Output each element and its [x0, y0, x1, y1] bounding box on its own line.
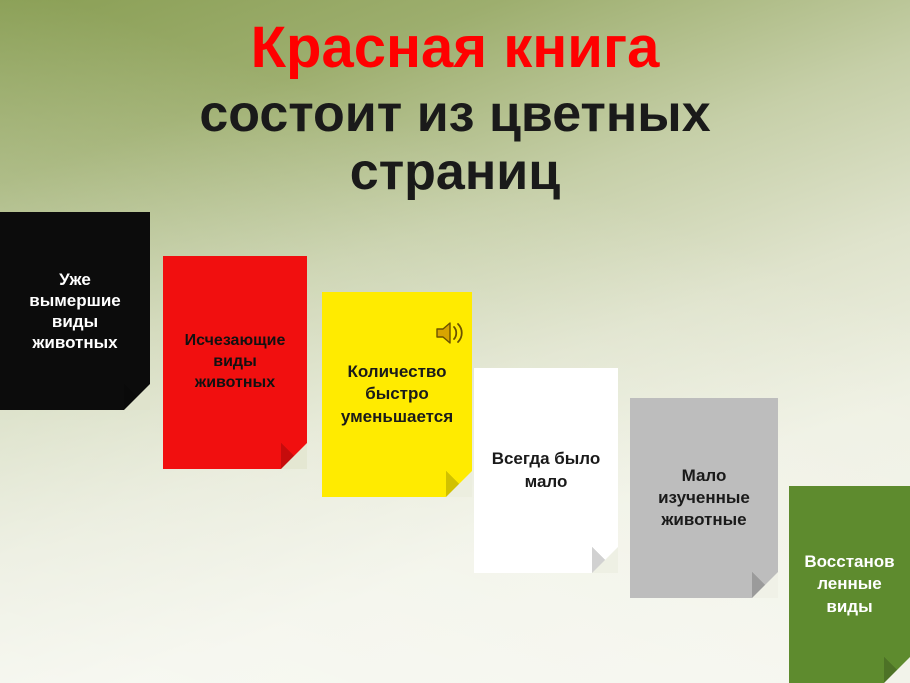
page-fold-cut: [752, 572, 778, 598]
slide-canvas: Красная книга состоит из цветных страниц…: [0, 0, 910, 683]
page-fold-cut: [592, 547, 618, 573]
card-white-pages: Всегда было мало: [474, 368, 618, 573]
card-black-pages: Уже вымершие виды животных: [0, 212, 150, 410]
page-subtitle-line-2: страниц: [0, 143, 910, 201]
card-black-label: Уже вымершие виды животных: [0, 269, 150, 354]
page-fold-cut: [281, 443, 307, 469]
card-red-pages: Исчезающие виды животных: [163, 256, 307, 469]
card-white-label: Всегда было мало: [474, 448, 618, 492]
card-green-label: Восстанов ленные виды: [789, 551, 910, 617]
card-gray-pages: Мало изученные животные: [630, 398, 778, 598]
card-yellow-label: Количество быстро уменьшается: [322, 361, 472, 427]
page-subtitle-line-1: состоит из цветных: [199, 85, 710, 143]
title-block: Красная книга состоит из цветных страниц: [0, 18, 910, 201]
card-green-pages: Восстанов ленные виды: [789, 486, 910, 683]
speaker-icon[interactable]: [434, 318, 468, 348]
card-gray-label: Мало изученные животные: [630, 465, 778, 531]
page-title: Красная книга: [0, 18, 910, 79]
page-fold-cut: [124, 384, 150, 410]
page-fold-cut: [446, 471, 472, 497]
page-subtitle: состоит из цветных страниц: [0, 85, 910, 201]
card-red-label: Исчезающие виды животных: [163, 331, 307, 393]
page-fold-cut: [884, 657, 910, 683]
